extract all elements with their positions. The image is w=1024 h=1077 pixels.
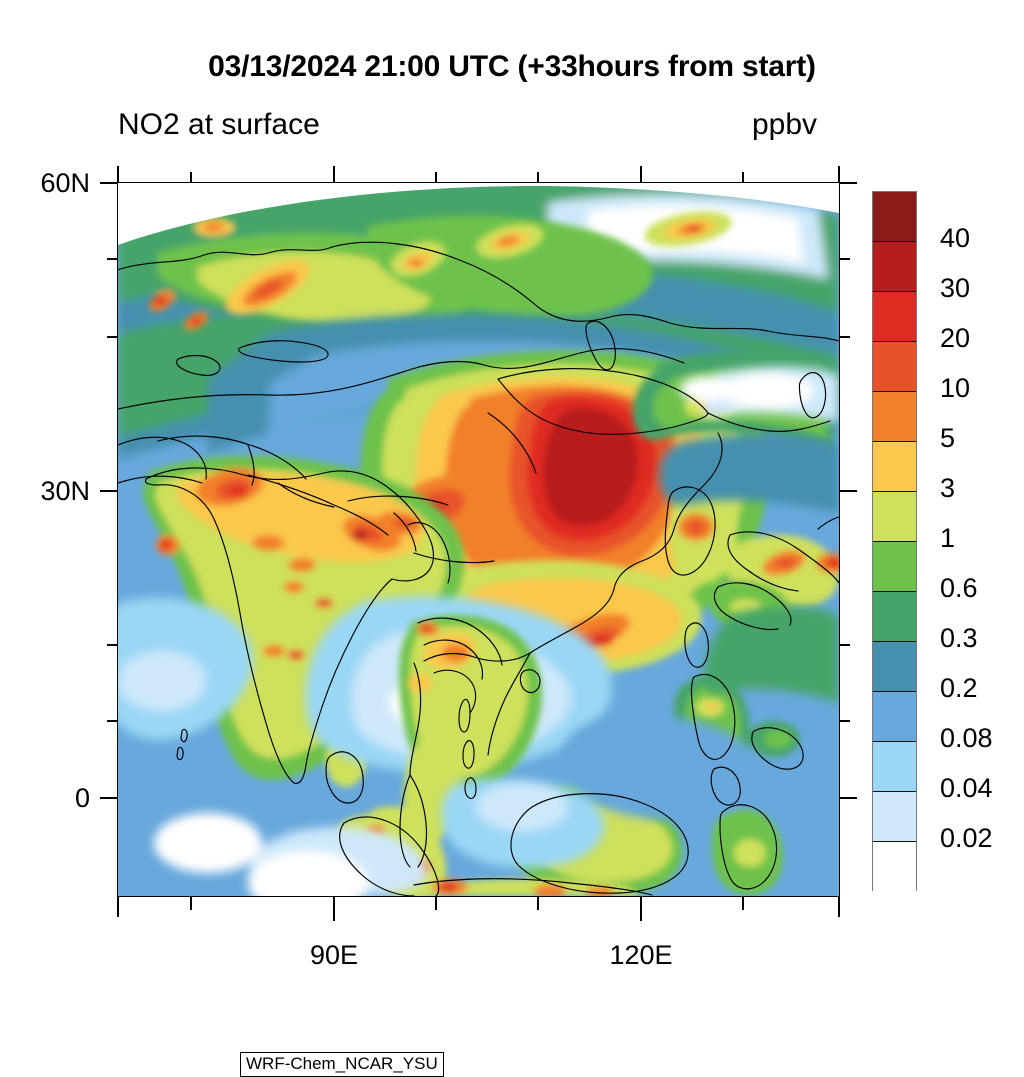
- x-tick: [117, 897, 119, 917]
- colorbar-tick-label: 0.3: [940, 623, 978, 654]
- colorbar-tick-label: 0.6: [940, 573, 978, 604]
- colorbar-band: [873, 692, 916, 742]
- colorbar-tick-label: 0.02: [940, 823, 993, 854]
- colorbar-tick-label: 0.08: [940, 723, 993, 754]
- y-tick-right: [840, 182, 857, 184]
- y-tick-right: [840, 644, 850, 646]
- y-tick: [100, 490, 117, 492]
- map-canvas: [118, 183, 839, 896]
- x-tick: [190, 897, 192, 910]
- x-tick: [838, 897, 840, 917]
- y-tick: [100, 182, 117, 184]
- colorbar-band: [873, 842, 916, 892]
- y-tick-right: [840, 720, 850, 722]
- colorbar-band: [873, 742, 916, 792]
- y-tick-label-60n: 60N: [0, 168, 90, 199]
- colorbar-tick-label: 30: [940, 273, 970, 304]
- x-tick-label-90e: 90E: [264, 940, 404, 971]
- colorbar-tick-label: 3: [940, 473, 955, 504]
- x-tick-top: [117, 166, 119, 183]
- colorbar-band: [873, 542, 916, 592]
- y-tick: [107, 720, 117, 722]
- y-tick-right: [840, 490, 857, 492]
- colorbar-tick-label: 0.2: [940, 673, 978, 704]
- page-title: 03/13/2024 21:00 UTC (+33hours from star…: [0, 50, 1024, 84]
- x-tick: [742, 897, 744, 910]
- colorbar-tick-label: 20: [940, 323, 970, 354]
- colorbar-band: [873, 392, 916, 442]
- variable-label: NO2 at surface: [118, 108, 320, 142]
- colorbar-band: [873, 192, 916, 242]
- model-watermark: WRF-Chem_NCAR_YSU: [240, 1052, 444, 1077]
- x-tick: [640, 897, 642, 921]
- colorbar-band: [873, 592, 916, 642]
- colorbar-band: [873, 792, 916, 842]
- x-tick-label-120e: 120E: [571, 940, 711, 971]
- y-tick: [107, 336, 117, 338]
- y-tick-label-30n: 30N: [0, 476, 90, 507]
- colorbar-tick-label: 10: [940, 373, 970, 404]
- colorbar-band: [873, 292, 916, 342]
- y-tick: [100, 797, 117, 799]
- x-tick-top: [333, 166, 335, 183]
- colorbar-band: [873, 642, 916, 692]
- colorbar-band: [873, 492, 916, 542]
- colorbar-tick-label: 5: [940, 423, 955, 454]
- colorbar-tick-label: 40: [940, 223, 970, 254]
- map-plot-frame: WRF-Chem_NCAR_YSU: [117, 182, 840, 897]
- y-tick-label-0: 0: [0, 783, 90, 814]
- y-tick-right: [840, 797, 857, 799]
- colorbar: [872, 191, 917, 891]
- map-svg: [118, 183, 839, 896]
- colorbar-band: [873, 442, 916, 492]
- colorbar-tick-label: 1: [940, 523, 955, 554]
- colorbar-band: [873, 342, 916, 392]
- y-tick: [107, 644, 117, 646]
- x-tick-top: [640, 166, 642, 183]
- x-tick: [537, 897, 539, 910]
- y-tick-right: [840, 336, 850, 338]
- x-tick: [333, 897, 335, 921]
- x-tick-top: [838, 166, 840, 183]
- y-tick: [107, 258, 117, 260]
- colorbar-band: [873, 242, 916, 292]
- colorbar-tick-label: 0.04: [940, 773, 993, 804]
- y-tick-right: [840, 258, 850, 260]
- x-tick: [435, 897, 437, 910]
- units-label: ppbv: [752, 108, 817, 142]
